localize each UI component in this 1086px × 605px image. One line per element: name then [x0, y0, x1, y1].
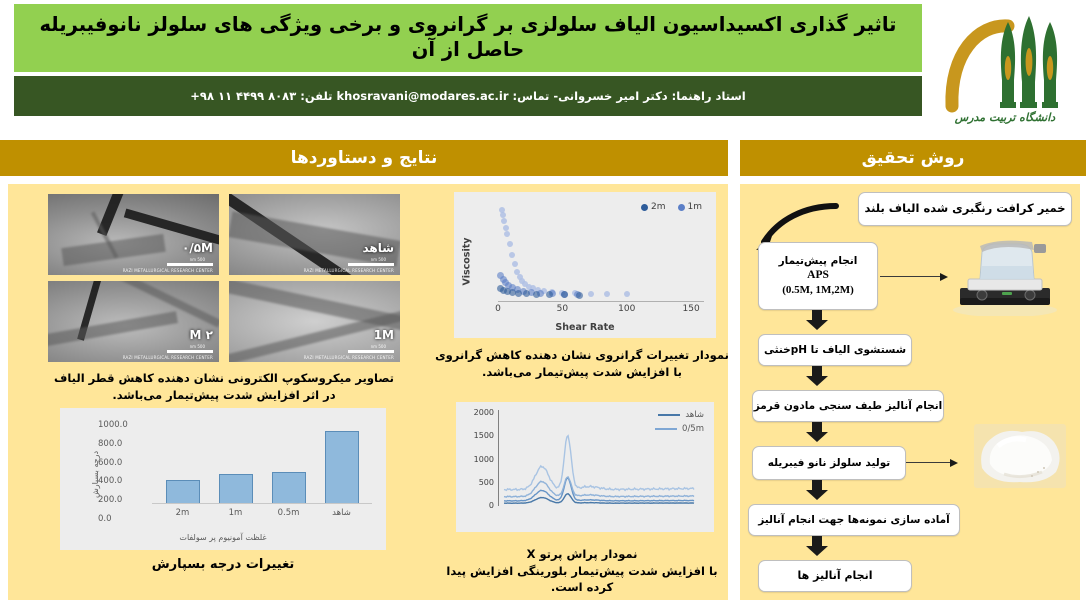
bar-xtick-1: 0.5m [264, 508, 314, 522]
tem-scalebar-1m [348, 350, 394, 353]
scatter-x-axis-line [498, 301, 704, 302]
scatter-xtick-0: 0 [495, 304, 501, 314]
scatter-chart-viscosity: 2m 1m Viscosity 050100150 Shear Rate [454, 192, 716, 338]
flow-arrow-3 [806, 422, 828, 442]
tem-image-2m: ۲ M 500 nm RAZI METALLURGICAL RESEARCH C… [48, 281, 219, 362]
page-title: تاثیر گذاری اکسیداسیون الیاف سلولزی بر گ… [14, 13, 922, 63]
flow-node-start[interactable]: خمیر کرافت رنگبری شده الیاف بلند [858, 192, 1072, 226]
tem-lab-stamp-1m: RAZI METALLURGICAL RESEARCH CENTER [304, 355, 394, 360]
scatter-point-2m-4 [515, 290, 522, 297]
scatter-point-light-7 [512, 261, 518, 267]
tem-image-grid: شاهد 500 nm RAZI METALLURGICAL RESEARCH … [48, 194, 400, 362]
advisor-contact-line: استاد راهنما: دکتر امیر خسروانی- تماس: k… [190, 89, 745, 103]
bar-xtick-2: 1m [211, 508, 261, 522]
tem-scale-value-0-5m: 500 nm [190, 257, 205, 262]
poster-contact-banner: استاد راهنما: دکتر امیر خسروانی- تماس: k… [14, 76, 922, 116]
xrd-ytick-1000: 1000 [460, 455, 494, 464]
xrd-caption: نمودار پراش پرتو X با افزایش شدت پیش‌تیم… [432, 546, 732, 596]
bar-2 [219, 474, 253, 504]
flow-node-pretreatment-line1: انجام پیش‌تیمار [779, 254, 858, 268]
tarbiat-modares-logo-icon [930, 2, 1080, 128]
bar-chart-baseline [152, 503, 372, 504]
flow-node-pretreatment[interactable]: انجام پیش‌تیمار APS (0.5M, 1M,2M) [758, 242, 878, 310]
scatter-point-2m-9 [576, 292, 583, 299]
scatter-x-ticks: 050100150 [498, 304, 704, 316]
bar-chart-caption: تغییرات درجه بسپارش [60, 556, 386, 575]
university-logo: دانشگاه تربیت مدرس [930, 2, 1080, 128]
flow-node-wash[interactable]: شستشوی الیاف تا pHخنثی [758, 334, 912, 366]
flow-node-produce-nfc[interactable]: تولید سلولز نانو فیبریله [752, 446, 906, 480]
flow-node-run-analyses[interactable]: انجام آنالیز ها [758, 560, 912, 592]
bar-xtick-3: 2m [158, 508, 208, 522]
bar-xtick-0: شاهد [317, 508, 367, 522]
tem-scalebar-0-5m [167, 263, 213, 266]
bar-1 [272, 472, 306, 504]
tem-caption-line1: تصاویر میکروسکوپ الکترونی نشان دهنده کاه… [38, 370, 410, 387]
xrd-curves [498, 412, 704, 506]
tem-label-1m: 1M [374, 328, 394, 342]
flow-arrow-5 [806, 536, 828, 556]
tem-lab-stamp-control: RAZI METALLURGICAL RESEARCH CENTER [304, 268, 394, 273]
tem-scale-value-2m: 500 nm [190, 344, 205, 349]
poster-root: تاثیر گذاری اکسیداسیون الیاف سلولزی بر گ… [0, 0, 1086, 605]
xrd-ytick-1500: 1500 [460, 431, 494, 440]
stirrer-illustration-icon [950, 236, 1060, 316]
bar-ytick-200: 200.0 [98, 495, 152, 505]
tem-scalebar-2m [167, 350, 213, 353]
scatter-xtick-3: 150 [683, 304, 700, 314]
flow-node-prepare-samples[interactable]: آماده سازی نمونه‌ها جهت انجام آنالیز [748, 504, 960, 536]
tem-label-2m: ۲ M [190, 328, 213, 342]
xrd-caption-line2: با افزایش شدت پیش‌تیمار بلورینگی افزایش … [432, 563, 732, 596]
bar-chart-bars [156, 424, 368, 504]
nfc-gel-illustration-icon [974, 424, 1066, 488]
tem-image-control: شاهد 500 nm RAZI METALLURGICAL RESEARCH … [229, 194, 400, 275]
bar-ytick-0: 0.0 [98, 514, 152, 524]
scatter-caption: نمودار تغییرات گرانروی نشان دهنده کاهش گ… [432, 347, 732, 380]
scatter-point-light-21 [624, 291, 630, 297]
scatter-point-2m-6 [533, 291, 540, 298]
flow-node-start-label: خمیر کرافت رنگبری شده الیاف بلند [864, 201, 1065, 217]
line-chart-xrd: 2000 1500 1000 500 0 شاهد 0/5m [456, 402, 714, 532]
scatter-caption-line1: نمودار تغییرات گرانروی نشان دهنده کاهش گ… [432, 347, 732, 364]
tem-lab-stamp-2m: RAZI METALLURGICAL RESEARCH CENTER [123, 355, 213, 360]
xrd-y-ticks: 2000 1500 1000 500 0 [460, 408, 494, 510]
nanocellulose-gel-photo [974, 424, 1066, 488]
scatter-xtick-1: 50 [557, 304, 568, 314]
scatter-point-light-5 [507, 241, 513, 247]
scatter-caption-line2: با افزایش شدت پیش‌تیمار می‌باشد. [432, 364, 732, 381]
section-banner-method-label: روش تحقیق [862, 148, 965, 168]
section-banner-method: روش تحقیق [740, 140, 1086, 176]
bar-0 [325, 431, 359, 504]
scatter-x-axis-title: Shear Rate [454, 322, 716, 333]
flow-node-produce-nfc-label: تولید سلولز نانو فیبریله [768, 456, 890, 470]
bar-chart-x-axis-title: غلظت آمونیوم پر سولفات [60, 533, 386, 542]
xrd-caption-line1: نمودار پراش پرتو X [432, 546, 732, 563]
flow-node-wash-label: شستشوی الیاف تا pHخنثی [764, 343, 906, 357]
tem-caption: تصاویر میکروسکوپ الکترونی نشان دهنده کاه… [38, 370, 410, 403]
tem-caption-line2: در اثر افزایش شدت پیش‌تیمار می‌باشد. [38, 387, 410, 404]
flow-node-ftir-label: انجام آنالیز طیف سنجی مادون قرمز [754, 399, 943, 413]
flow-node-prepare-samples-label: آماده سازی نمونه‌ها جهت انجام آنالیز [758, 513, 950, 527]
bar-chart-x-ticks: شاهد0.5m1m2m [156, 508, 368, 522]
flow-arrow-to-nfc-photo [906, 458, 958, 467]
scatter-point-light-4 [504, 231, 510, 237]
bar-ytick-1000: 1000.0 [98, 420, 152, 430]
tem-label-control: شاهد [362, 241, 394, 255]
tem-lab-stamp-0-5m: RAZI METALLURGICAL RESEARCH CENTER [123, 268, 213, 273]
results-panel: شاهد 500 nm RAZI METALLURGICAL RESEARCH … [8, 184, 728, 600]
scatter-point-light-6 [509, 252, 515, 258]
xrd-plot-area [498, 412, 704, 506]
xrd-ytick-0: 0 [460, 501, 494, 510]
flow-node-run-analyses-label: انجام آنالیز ها [798, 569, 873, 584]
tem-scale-value-control: 500 nm [371, 257, 386, 262]
scatter-point-2m-5 [523, 290, 530, 297]
section-banner-results: نتایج و دستاوردها [0, 140, 728, 176]
logo-caption: دانشگاه تربیت مدرس [930, 111, 1080, 124]
flow-node-ftir-analysis[interactable]: انجام آنالیز طیف سنجی مادون قرمز [752, 390, 944, 422]
tem-label-0-5m: ۰/۵M [182, 241, 213, 255]
advisor-phone: ۸۰۸۳ ۴۴۹۹ ۱۱ ۹۸+ [190, 89, 296, 103]
scatter-point-light-2 [501, 218, 507, 224]
tem-image-1m: 1M 500 nm RAZI METALLURGICAL RESEARCH CE… [229, 281, 400, 362]
xrd-ytick-500: 500 [460, 478, 494, 487]
scatter-y-axis-title: Viscosity [460, 226, 474, 296]
scatter-plot-area [498, 202, 704, 296]
bar-ytick-800: 800.0 [98, 439, 152, 449]
flow-arrow-to-stirrer-photo [880, 272, 948, 281]
tem-scale-value-1m: 500 nm [371, 344, 386, 349]
bar-3 [166, 480, 200, 504]
scatter-point-light-19 [588, 291, 594, 297]
phone-label: تلفن: [300, 89, 332, 103]
flow-arrow-2 [806, 366, 828, 386]
advisor-email[interactable]: khosravani@modares.ac.ir [337, 89, 509, 103]
magnetic-stirrer-photo [950, 236, 1060, 316]
xrd-curve-3 [504, 436, 694, 491]
bar-ytick-400: 400.0 [98, 476, 152, 486]
tem-scalebar-control [348, 263, 394, 266]
poster-title-banner: تاثیر گذاری اکسیداسیون الیاف سلولزی بر گ… [14, 4, 922, 72]
scatter-point-2m-8 [561, 291, 568, 298]
bar-chart-plot-area [156, 424, 368, 504]
advisor-label: استاد راهنما: دکتر امیر خسروانی- تماس: [513, 89, 746, 103]
method-panel: خمیر کرافت رنگبری شده الیاف بلند انجام پ… [740, 184, 1080, 600]
flow-arrow-4 [806, 480, 828, 500]
xrd-ytick-2000: 2000 [460, 408, 494, 417]
bar-ytick-600: 600.0 [98, 458, 152, 468]
flow-node-pretreatment-line3: (0.5M, 1M,2M) [782, 283, 853, 298]
bar-chart-degree-of-polymerization: درجه بسپارش 1000.0 800.0 600.0 400.0 200… [60, 408, 386, 550]
flow-arrow-1 [806, 310, 828, 330]
scatter-xtick-2: 100 [618, 304, 635, 314]
section-banner-results-label: نتایج و دستاوردها [291, 148, 438, 168]
scatter-point-light-20 [604, 291, 610, 297]
flow-node-pretreatment-line2: APS [807, 268, 829, 284]
tem-image-0-5m: ۰/۵M 500 nm RAZI METALLURGICAL RESEARCH … [48, 194, 219, 275]
scatter-point-2m-7 [546, 291, 553, 298]
bar-chart-y-ticks: 1000.0 800.0 600.0 400.0 200.0 0.0 [98, 420, 152, 524]
